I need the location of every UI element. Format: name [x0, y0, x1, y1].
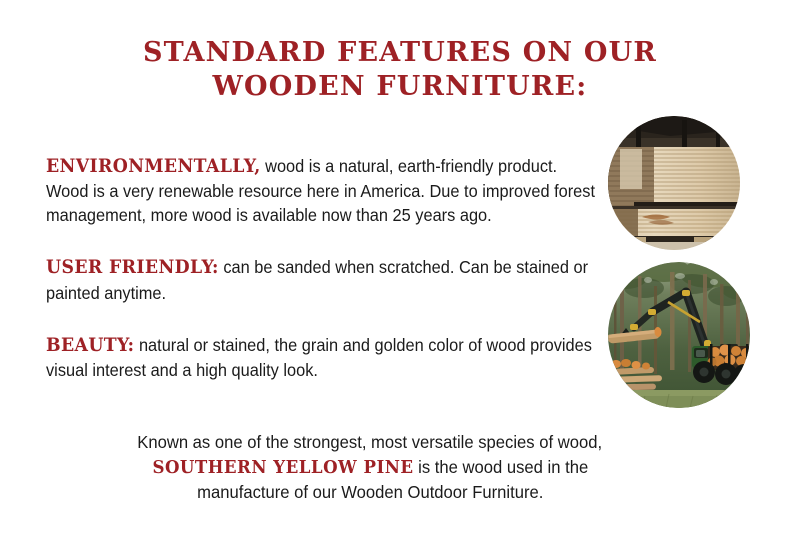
stacked-lumber-illustration [608, 116, 740, 250]
footer-line-2-text: is the wood used in the [413, 457, 588, 477]
footer-line-3: manufacture of our Wooden Outdoor Furnit… [60, 480, 680, 505]
feature-paragraph-environmentally: ENVIRONMENTALLY, wood is a natural, eart… [46, 154, 598, 228]
page-title: STANDARD FEATURES ON OUR WOODEN FURNITUR… [40, 36, 760, 104]
southern-yellow-pine-highlight: SOUTHERN YELLOW PINE [152, 458, 413, 478]
features-list: ENVIRONMENTALLY, wood is a natural, eart… [46, 136, 598, 400]
footer-line-1: Known as one of the strongest, most vers… [60, 430, 680, 455]
footer-line-3-text: manufacture of our Wooden Outdoor Furnit… [197, 480, 543, 505]
footer-line-1-text: Known as one of the strongest, most vers… [138, 430, 603, 455]
footer-statement: Known as one of the strongest, most vers… [60, 430, 680, 505]
feature-lead-beauty: BEAUTY: [46, 335, 134, 356]
footer-line-2: SOUTHERN YELLOW PINE is the wood used in… [60, 455, 680, 481]
feature-paragraph-beauty: BEAUTY: natural or stained, the grain an… [46, 333, 598, 383]
poster-page: STANDARD FEATURES ON OUR WOODEN FURNITUR… [0, 0, 800, 533]
feature-lead-environmentally: ENVIRONMENTALLY, [46, 156, 261, 177]
stacked-lumber-photo [608, 116, 740, 250]
feature-lead-user-friendly: USER FRIENDLY: [46, 257, 219, 278]
feature-paragraph-user-friendly: USER FRIENDLY: can be sanded when scratc… [46, 255, 598, 305]
page-title-line-2: WOODEN FURNITURE: [40, 70, 760, 104]
forest-harvester-illustration [608, 262, 750, 408]
page-title-line-1: STANDARD FEATURES ON OUR [40, 36, 760, 70]
forest-harvester-photo [608, 262, 750, 408]
